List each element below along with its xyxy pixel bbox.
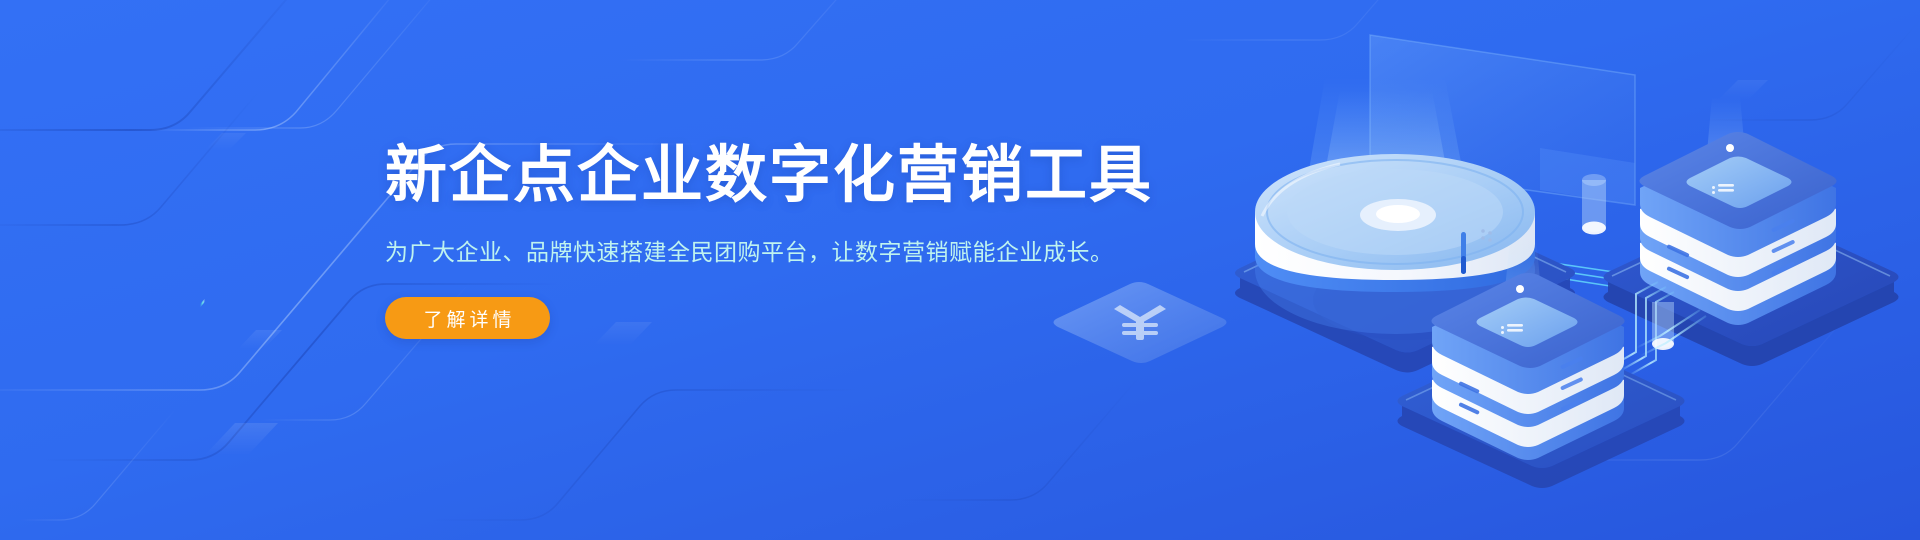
learn-more-button[interactable]: 了解详情 [385,297,550,339]
light-post-icon [1582,174,1606,235]
page-title: 新企点企业数字化营销工具 [385,140,1085,211]
hero-banner: 新企点企业数字化营销工具 为广大企业、品牌快速搭建全民团购平台，让数字营销赋能企… [0,0,1920,540]
hero-text-block: 新企点企业数字化营销工具 为广大企业、品牌快速搭建全民团购平台，让数字营销赋能企… [385,140,1085,339]
page-subtitle: 为广大企业、品牌快速搭建全民团购平台，让数字营销赋能企业成长。 [385,233,1085,267]
light-post-bottom-icon [1652,302,1674,350]
hero-illustration [1040,0,1920,540]
isometric-datacenter-svg [1040,0,1920,540]
